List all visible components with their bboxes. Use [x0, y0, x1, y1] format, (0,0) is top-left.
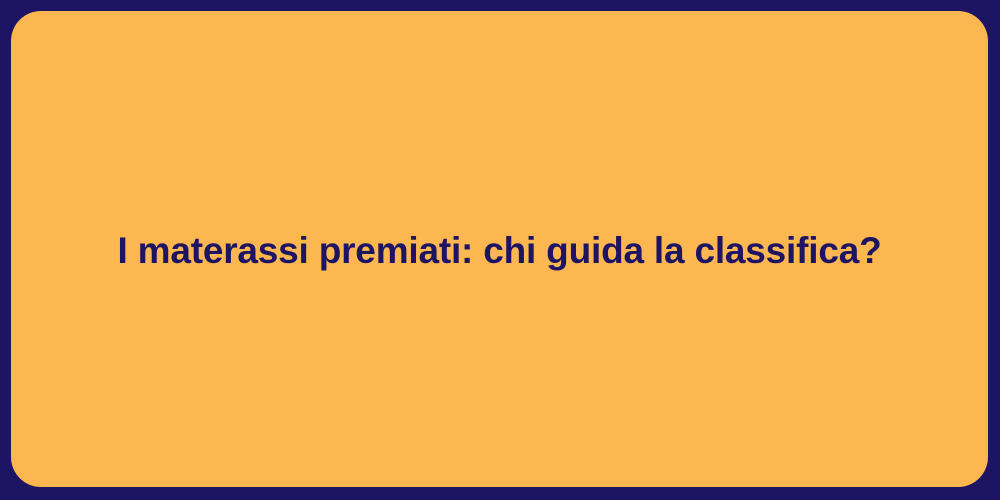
card-frame: I materassi premiati: chi guida la class…: [0, 0, 1000, 500]
page-title: I materassi premiati: chi guida la class…: [77, 228, 921, 274]
card-panel: I materassi premiati: chi guida la class…: [11, 11, 988, 487]
